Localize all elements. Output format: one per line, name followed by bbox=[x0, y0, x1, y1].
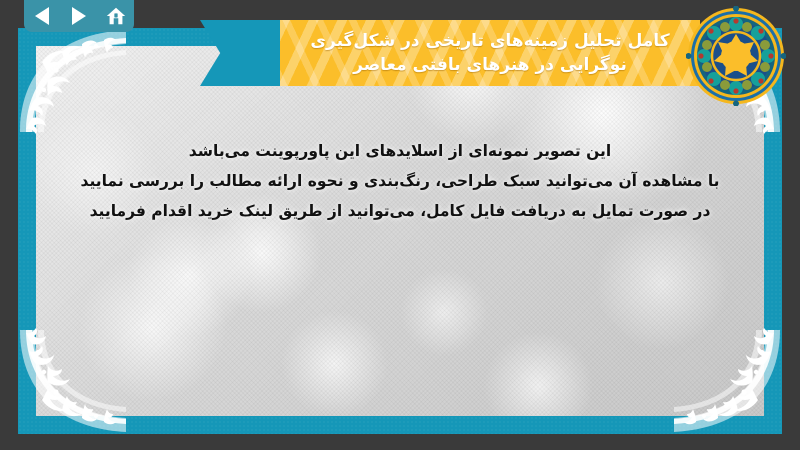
persian-medallion-icon bbox=[686, 6, 786, 106]
title-line-2: نوگرایی در هنرهای بافتی معاصر bbox=[353, 53, 627, 77]
slide-body-text: این تصویر نمونه‌ای از اسلایدهای این پاور… bbox=[48, 136, 752, 227]
previous-slide-button[interactable] bbox=[30, 5, 54, 27]
title-ribbon: کامل تحلیل زمینه‌های تاریخی در شکل‌گیری … bbox=[200, 0, 760, 86]
triangle-left-icon bbox=[35, 7, 49, 25]
ribbon-banner: کامل تحلیل زمینه‌های تاریخی در شکل‌گیری … bbox=[280, 20, 700, 86]
home-button[interactable] bbox=[104, 5, 128, 27]
slide-frame: این تصویر نمونه‌ای از اسلایدهای این پاور… bbox=[18, 28, 782, 434]
body-line-3: در صورت تمایل به دریافت فایل کامل، می‌تو… bbox=[48, 196, 752, 226]
home-icon bbox=[105, 5, 127, 27]
ribbon-tail bbox=[200, 20, 292, 86]
slide-content-panel bbox=[36, 46, 764, 416]
title-line-1: کامل تحلیل زمینه‌های تاریخی در شکل‌گیری bbox=[310, 29, 669, 53]
body-line-2: با مشاهده آن می‌توانید سبک طراحی، رنگ‌بن… bbox=[48, 166, 752, 196]
navigation-bar bbox=[24, 0, 134, 32]
slide-viewer: این تصویر نمونه‌ای از اسلایدهای این پاور… bbox=[0, 0, 800, 450]
triangle-right-icon bbox=[72, 7, 86, 25]
next-slide-button[interactable] bbox=[67, 5, 91, 27]
slide-title: کامل تحلیل زمینه‌های تاریخی در شکل‌گیری … bbox=[280, 20, 700, 86]
body-line-1: این تصویر نمونه‌ای از اسلایدهای این پاور… bbox=[48, 136, 752, 166]
